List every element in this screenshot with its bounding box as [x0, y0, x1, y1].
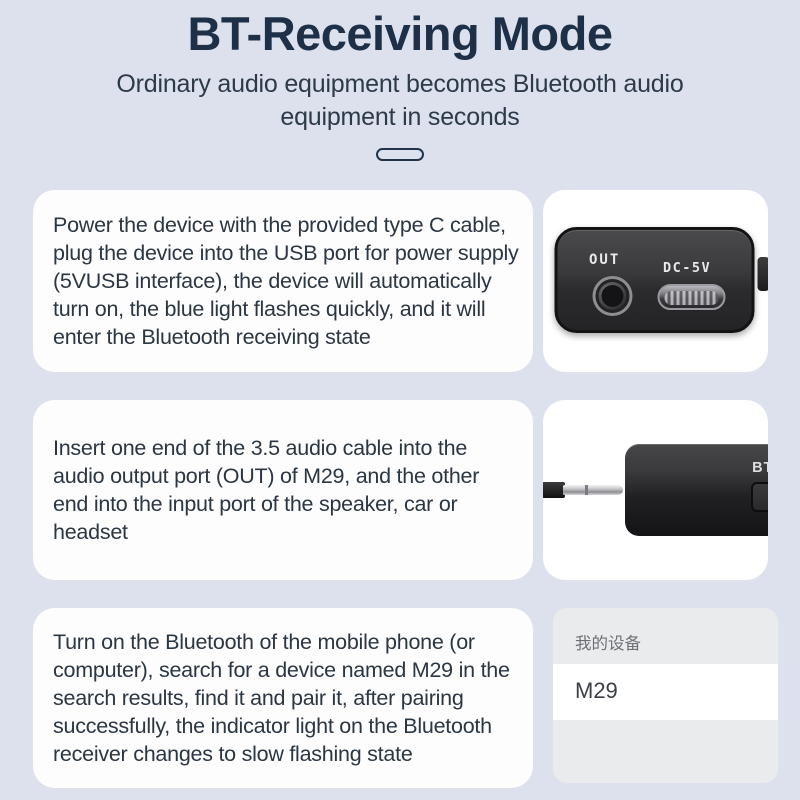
- step-image-card-aux-plug: BT AI: [543, 400, 768, 580]
- mode-switch-labels: BT AI: [738, 460, 768, 476]
- plug-grip: [543, 482, 565, 498]
- step-image-card-phone-bluetooth: 我的设备 M29: [543, 608, 768, 788]
- usb-c-port-icon: [657, 284, 725, 310]
- phone-bluetooth-panel: 我的设备 M29: [553, 608, 778, 783]
- my-devices-section-title: 我的设备: [553, 608, 778, 664]
- out-port-label: OUT: [589, 252, 620, 268]
- page-header: BT-Receiving Mode Ordinary audio equipme…: [0, 0, 800, 161]
- step-row-power: Power the device with the provided type …: [0, 190, 800, 372]
- step-image-card-receiver-face: OUT DC-5V: [543, 190, 768, 372]
- step-description: Turn on the Bluetooth of the mobile phon…: [53, 628, 519, 769]
- steps-list: Power the device with the provided type …: [0, 190, 800, 800]
- page-subtitle: Ordinary audio equipment becomes Bluetoo…: [0, 68, 800, 134]
- step-row-audio-cable: Insert one end of the 3.5 audio cable in…: [0, 400, 800, 580]
- device-body: OUT DC-5V: [554, 227, 754, 333]
- step-description: Insert one end of the 3.5 audio cable in…: [53, 434, 519, 547]
- aux-plug-icon: [543, 482, 625, 498]
- step-row-pairing: Turn on the Bluetooth of the mobile phon…: [0, 608, 800, 788]
- bluetooth-device-list-item[interactable]: M29: [553, 664, 778, 720]
- step-text-card: Insert one end of the 3.5 audio cable in…: [33, 400, 533, 580]
- plug-pin: [563, 485, 623, 495]
- receiver-device-illustration: OUT DC-5V: [548, 221, 763, 341]
- mode-switch-icon: [751, 482, 768, 512]
- step-text-card: Power the device with the provided type …: [33, 190, 533, 372]
- bt-mode-label: BT: [752, 460, 768, 476]
- device-side-button: [757, 257, 768, 291]
- receiver-device-body: BT AI: [625, 444, 768, 536]
- step-description: Power the device with the provided type …: [53, 211, 519, 352]
- dc-5v-label: DC-5V: [663, 260, 711, 276]
- page-title: BT-Receiving Mode: [0, 6, 800, 61]
- step-text-card: Turn on the Bluetooth of the mobile phon…: [33, 608, 533, 788]
- audio-jack-port-icon: [592, 276, 632, 316]
- pill-divider-icon: [376, 148, 424, 161]
